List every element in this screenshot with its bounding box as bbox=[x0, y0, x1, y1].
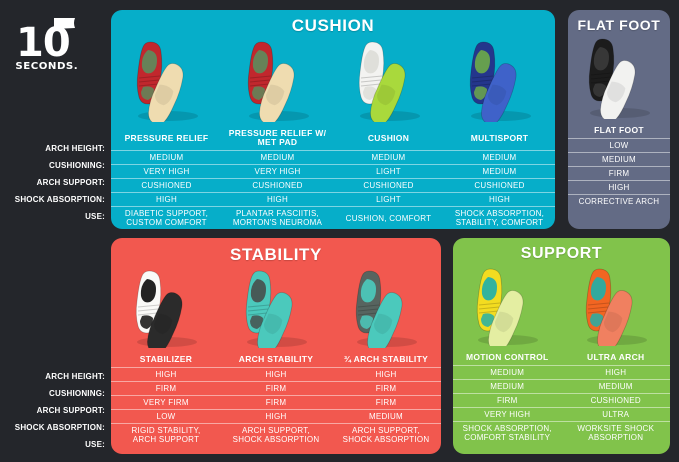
product-name[interactable]: ARCH STABILITY bbox=[221, 353, 331, 368]
spec-cell-use: RIGID STABILITY, ARCH SUPPORT bbox=[111, 424, 221, 447]
product-art-cell bbox=[331, 265, 441, 353]
spec-cell-cushioning: MEDIUM bbox=[562, 380, 671, 394]
insole-illustration bbox=[580, 33, 658, 119]
spec-row-cushioning: FIRMFIRMFIRM bbox=[111, 382, 441, 396]
product-name[interactable]: ¾ ARCH STABILITY bbox=[331, 353, 441, 368]
spec-cell-arch_support: FIRM bbox=[221, 396, 331, 410]
logo-number: 10 bbox=[16, 23, 70, 63]
spec-table-flat-foot: FLAT FOOTLOWMEDIUMFIRMHIGHCORRECTIVE ARC… bbox=[568, 124, 670, 208]
spec-cell-arch_height: LOW bbox=[568, 139, 670, 153]
spec-row-arch_height: MEDIUMMEDIUMMEDIUMMEDIUM bbox=[111, 151, 555, 165]
row-label-arch-support: ARCH SUPPORT: bbox=[0, 174, 105, 191]
product-name-row: MOTION CONTROLULTRA ARCH bbox=[453, 351, 670, 366]
spec-cell-arch_height: MEDIUM bbox=[111, 151, 222, 165]
spec-row-shock_absorption: VERY HIGHULTRA bbox=[453, 408, 670, 422]
spec-cell-shock_absorption: HIGH bbox=[221, 410, 331, 424]
spec-row-use: DIABETIC SUPPORT, CUSTOM COMFORTPLANTAR … bbox=[111, 207, 555, 230]
row-label-arch-height-2: ARCH HEIGHT: bbox=[0, 368, 105, 385]
spec-cell-shock_absorption: HIGH bbox=[111, 193, 222, 207]
product-name[interactable]: ULTRA ARCH bbox=[562, 351, 671, 366]
spec-cell-use: CORRECTIVE ARCH bbox=[568, 195, 670, 209]
product-images-cushion bbox=[111, 36, 555, 127]
row-label-use-2: USE: bbox=[0, 436, 105, 453]
brand-logo: 10 SECONDS. bbox=[12, 14, 98, 76]
spec-row-use: CORRECTIVE ARCH bbox=[568, 195, 670, 209]
spec-cell-arch_height: MEDIUM bbox=[222, 151, 333, 165]
spec-cell-arch_height: HIGH bbox=[562, 366, 671, 380]
row-label-arch-height: ARCH HEIGHT: bbox=[0, 140, 105, 157]
spec-table-cushion: PRESSURE RELIEFPRESSURE RELIEF W/ MET PA… bbox=[111, 127, 555, 229]
panel-stability[interactable]: STABILITY bbox=[111, 238, 441, 454]
panel-title-support: SUPPORT bbox=[453, 245, 670, 263]
spec-cell-use: SHOCK ABSORPTION, STABILITY, COMFORT bbox=[444, 207, 555, 230]
product-art-cell bbox=[568, 33, 670, 124]
insole-illustration bbox=[461, 36, 539, 122]
product-name[interactable]: MULTISPORT bbox=[444, 127, 555, 151]
spec-cell-use: ARCH SUPPORT, SHOCK ABSORPTION bbox=[331, 424, 441, 447]
spec-cell-use: DIABETIC SUPPORT, CUSTOM COMFORT bbox=[111, 207, 222, 230]
spec-cell-use: ARCH SUPPORT, SHOCK ABSORPTION bbox=[221, 424, 331, 447]
spec-cell-arch_height: MEDIUM bbox=[453, 366, 562, 380]
spec-cell-shock_absorption: VERY HIGH bbox=[453, 408, 562, 422]
spec-cell-arch_support: FIRM bbox=[453, 394, 562, 408]
spec-cell-cushioning: MEDIUM bbox=[453, 380, 562, 394]
spec-cell-arch_support: CUSHIONED bbox=[562, 394, 671, 408]
row-label-shock-absorption-2: SHOCK ABSORPTION: bbox=[0, 419, 105, 436]
spec-cell-arch_height: MEDIUM bbox=[333, 151, 444, 165]
product-name-row: PRESSURE RELIEFPRESSURE RELIEF W/ MET PA… bbox=[111, 127, 555, 151]
product-name[interactable]: PRESSURE RELIEF bbox=[111, 127, 222, 151]
spec-row-arch_support: VERY FIRMFIRMFIRM bbox=[111, 396, 441, 410]
spec-cell-arch_support: FIRM bbox=[568, 167, 670, 181]
insole-illustration bbox=[468, 263, 546, 346]
spec-row-arch_height: LOW bbox=[568, 139, 670, 153]
spec-row-cushioning: MEDIUM bbox=[568, 153, 670, 167]
logo-wordmark: SECONDS. bbox=[15, 61, 78, 72]
spec-cell-cushioning: FIRM bbox=[331, 382, 441, 396]
spec-cell-cushioning: FIRM bbox=[221, 382, 331, 396]
row-labels-bottom: ARCH HEIGHT: CUSHIONING: ARCH SUPPORT: S… bbox=[0, 368, 105, 453]
spec-cell-shock_absorption: ULTRA bbox=[562, 408, 671, 422]
panel-flat-foot[interactable]: FLAT FOOT FLAT FOOTLOWMEDIUMFIRMHIGHCORR… bbox=[568, 10, 670, 229]
spec-row-arch_support: FIRMCUSHIONED bbox=[453, 394, 670, 408]
panel-title-flat-foot: FLAT FOOT bbox=[568, 17, 670, 33]
spec-cell-cushioning: LIGHT bbox=[333, 165, 444, 179]
product-images-flat-foot bbox=[568, 33, 670, 124]
product-art-cell bbox=[562, 263, 671, 351]
insole-illustration bbox=[239, 36, 317, 122]
spec-cell-shock_absorption: HIGH bbox=[222, 193, 333, 207]
product-art-cell bbox=[222, 36, 333, 127]
spec-cell-arch_support: CUSHIONED bbox=[333, 179, 444, 193]
spec-cell-arch_height: HIGH bbox=[331, 368, 441, 382]
spec-cell-arch_support: VERY FIRM bbox=[111, 396, 221, 410]
spec-row-arch_height: MEDIUMHIGH bbox=[453, 366, 670, 380]
product-name[interactable]: STABILIZER bbox=[111, 353, 221, 368]
spec-cell-shock_absorption: LOW bbox=[111, 410, 221, 424]
spec-cell-shock_absorption: MEDIUM bbox=[331, 410, 441, 424]
spec-cell-arch_support: CUSHIONED bbox=[111, 179, 222, 193]
spec-table-stability: STABILIZERARCH STABILITY¾ ARCH STABILITY… bbox=[111, 353, 441, 446]
spec-row-arch_height: HIGHHIGHHIGH bbox=[111, 368, 441, 382]
spec-cell-shock_absorption: LIGHT bbox=[333, 193, 444, 207]
insole-illustration bbox=[577, 263, 655, 346]
spec-cell-arch_height: HIGH bbox=[221, 368, 331, 382]
insole-illustration bbox=[350, 36, 428, 122]
spec-cell-use: WORKSITE SHOCK ABSORPTION bbox=[562, 422, 671, 445]
spec-cell-cushioning: VERY HIGH bbox=[222, 165, 333, 179]
spec-row-use: SHOCK ABSORPTION, COMFORT STABILITYWORKS… bbox=[453, 422, 670, 445]
product-images-support bbox=[453, 263, 670, 351]
product-art-cell bbox=[111, 36, 222, 127]
spec-row-shock_absorption: HIGHHIGHLIGHTHIGH bbox=[111, 193, 555, 207]
product-name[interactable]: MOTION CONTROL bbox=[453, 351, 562, 366]
spec-cell-cushioning: VERY HIGH bbox=[111, 165, 222, 179]
product-name[interactable]: FLAT FOOT bbox=[568, 124, 670, 139]
spec-row-cushioning: VERY HIGHVERY HIGHLIGHTMEDIUM bbox=[111, 165, 555, 179]
panel-title-cushion: CUSHION bbox=[111, 16, 555, 36]
panel-cushion[interactable]: CUSHION bbox=[111, 10, 555, 229]
product-name-row: STABILIZERARCH STABILITY¾ ARCH STABILITY bbox=[111, 353, 441, 368]
insole-illustration bbox=[127, 265, 205, 348]
panel-support[interactable]: SUPPORT bbox=[453, 238, 670, 454]
spec-row-use: RIGID STABILITY, ARCH SUPPORTARCH SUPPOR… bbox=[111, 424, 441, 447]
spec-cell-arch_support: FIRM bbox=[331, 396, 441, 410]
insole-illustration bbox=[237, 265, 315, 348]
spec-cell-shock_absorption: HIGH bbox=[568, 181, 670, 195]
spec-cell-arch_support: CUSHIONED bbox=[444, 179, 555, 193]
spec-cell-arch_height: MEDIUM bbox=[444, 151, 555, 165]
spec-cell-use: CUSHION, COMFORT bbox=[333, 207, 444, 230]
spec-cell-shock_absorption: HIGH bbox=[444, 193, 555, 207]
row-label-cushioning: CUSHIONING: bbox=[0, 157, 105, 174]
product-name-row: FLAT FOOT bbox=[568, 124, 670, 139]
spec-cell-use: PLANTAR FASCIITIS, MORTON'S NEUROMA bbox=[222, 207, 333, 230]
row-labels-top: ARCH HEIGHT: CUSHIONING: ARCH SUPPORT: S… bbox=[0, 140, 105, 225]
product-art-cell bbox=[444, 36, 555, 127]
spec-cell-cushioning: MEDIUM bbox=[444, 165, 555, 179]
insole-illustration bbox=[347, 265, 425, 348]
spec-table-support: MOTION CONTROLULTRA ARCHMEDIUMHIGHMEDIUM… bbox=[453, 351, 670, 444]
spec-row-arch_support: CUSHIONEDCUSHIONEDCUSHIONEDCUSHIONED bbox=[111, 179, 555, 193]
spec-row-cushioning: MEDIUMMEDIUM bbox=[453, 380, 670, 394]
product-art-cell bbox=[453, 263, 562, 351]
spec-row-arch_support: FIRM bbox=[568, 167, 670, 181]
spec-cell-arch_height: HIGH bbox=[111, 368, 221, 382]
product-images-stability bbox=[111, 265, 441, 353]
row-label-cushioning-2: CUSHIONING: bbox=[0, 385, 105, 402]
insole-illustration bbox=[128, 36, 206, 122]
spec-cell-arch_support: CUSHIONED bbox=[222, 179, 333, 193]
spec-cell-cushioning: MEDIUM bbox=[568, 153, 670, 167]
product-art-cell bbox=[111, 265, 221, 353]
spec-row-shock_absorption: LOWHIGHMEDIUM bbox=[111, 410, 441, 424]
product-name[interactable]: PRESSURE RELIEF W/ MET PAD bbox=[222, 127, 333, 151]
spec-row-shock_absorption: HIGH bbox=[568, 181, 670, 195]
spec-cell-cushioning: FIRM bbox=[111, 382, 221, 396]
product-art-cell bbox=[221, 265, 331, 353]
product-art-cell bbox=[333, 36, 444, 127]
row-label-shock-absorption: SHOCK ABSORPTION: bbox=[0, 191, 105, 208]
row-label-use: USE: bbox=[0, 208, 105, 225]
panel-title-stability: STABILITY bbox=[111, 245, 441, 265]
product-name[interactable]: CUSHION bbox=[333, 127, 444, 151]
row-label-arch-support-2: ARCH SUPPORT: bbox=[0, 402, 105, 419]
spec-cell-use: SHOCK ABSORPTION, COMFORT STABILITY bbox=[453, 422, 562, 445]
insole-comparison-chart: 10 SECONDS. ARCH HEIGHT: CUSHIONING: ARC… bbox=[0, 0, 679, 462]
